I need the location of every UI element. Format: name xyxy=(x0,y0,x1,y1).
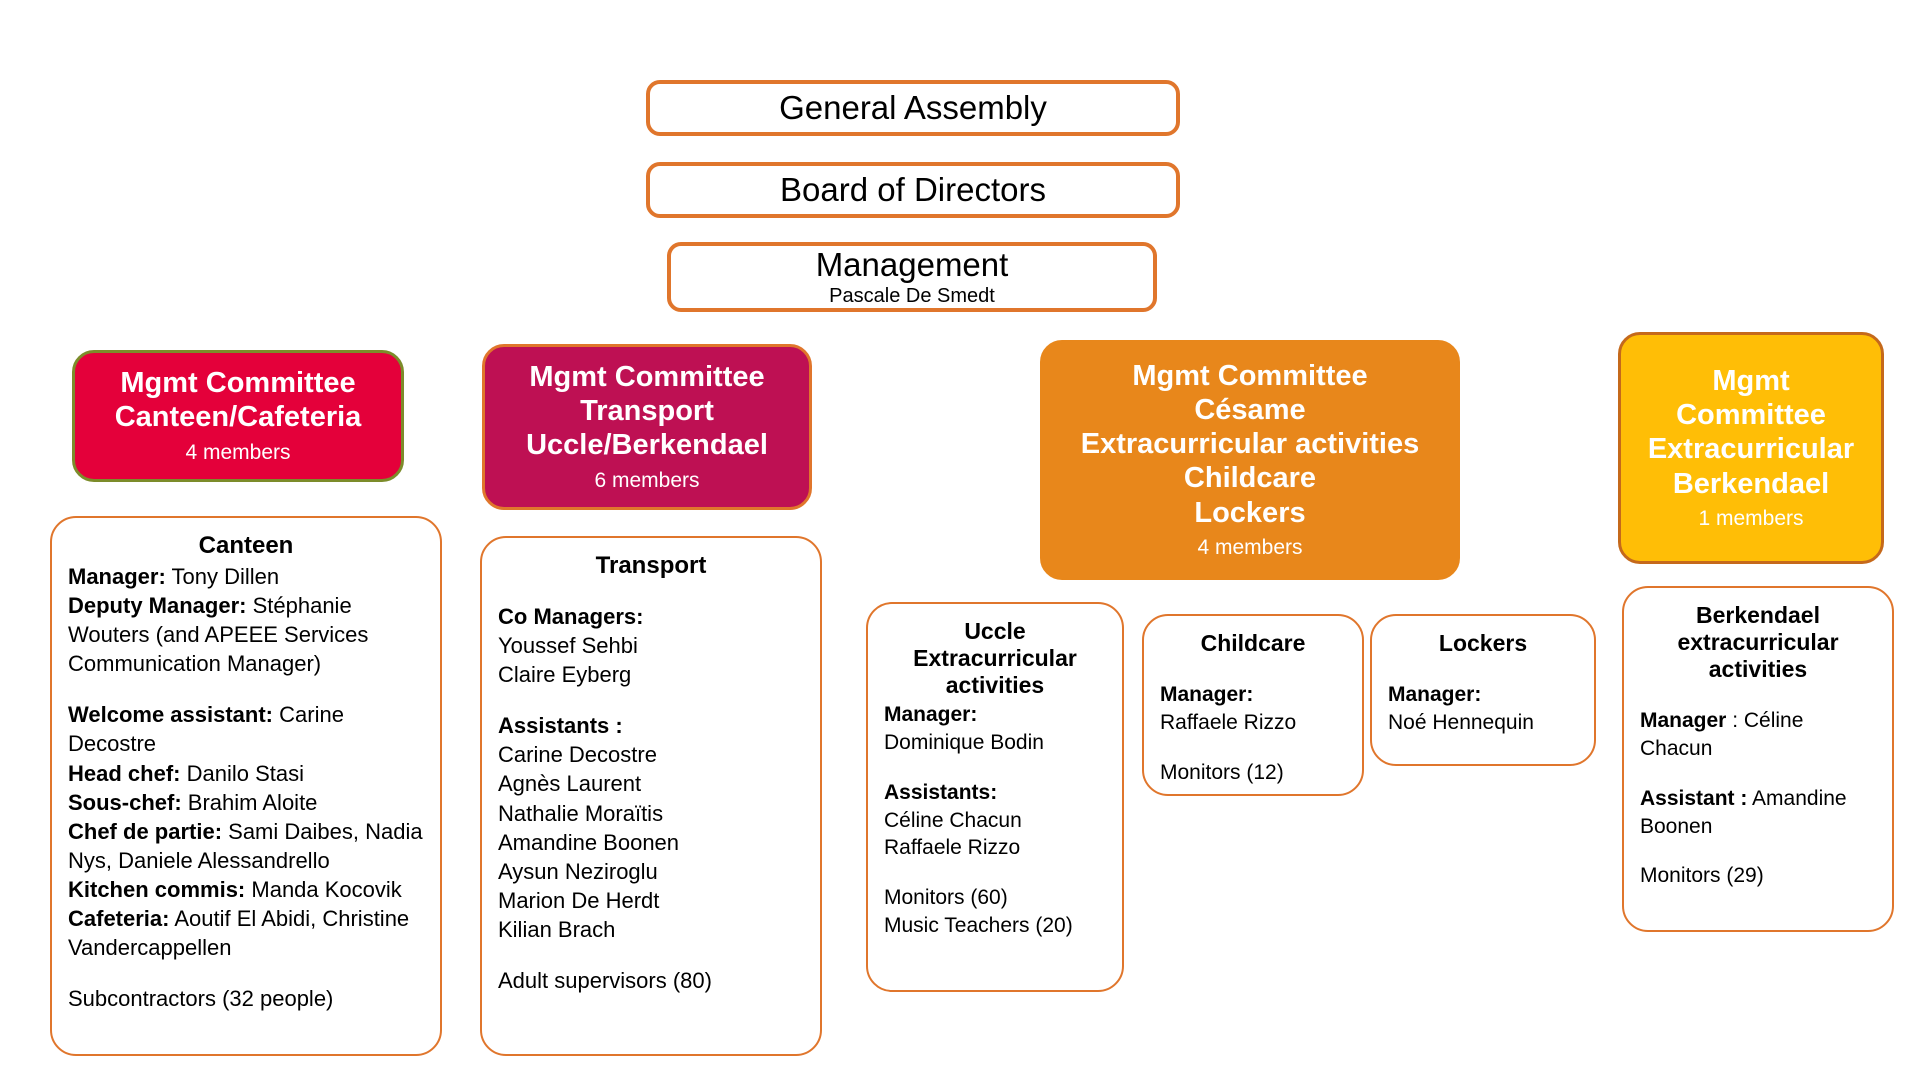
detail-transport-title: Transport xyxy=(498,552,804,580)
detail-row: Agnès Laurent xyxy=(498,769,804,798)
detail-row: Subcontractors (32 people) xyxy=(68,984,424,1013)
detail-box-childcare: Childcare Manager:Raffaele RizzoMonitors… xyxy=(1142,614,1364,796)
detail-box-transport: Transport Co Managers:Youssef SehbiClair… xyxy=(480,536,822,1056)
committee-berkendael-line4: Berkendael xyxy=(1648,467,1854,501)
detail-row-label: Cafeteria: xyxy=(68,906,169,931)
detail-row: Monitors (29) xyxy=(1640,862,1876,890)
committee-cesame-line3: Extracurricular activities xyxy=(1081,427,1420,461)
detail-uccle-body: Manager:Dominique BodinAssistants:Céline… xyxy=(884,701,1106,939)
detail-lockers-body: Manager:Noé Hennequin xyxy=(1388,659,1578,736)
detail-spacer xyxy=(498,944,804,966)
general-assembly-box: General Assembly xyxy=(646,80,1180,136)
board-of-directors-box: Board of Directors xyxy=(646,162,1180,218)
committee-cesame-line2: Césame xyxy=(1081,393,1420,427)
committee-cesame-line1: Mgmt Committee xyxy=(1081,359,1420,393)
detail-row-label: Co Managers: xyxy=(498,604,643,629)
detail-row: Cafeteria: Aoutif El Abidi, Christine Va… xyxy=(68,904,424,962)
detail-row: Aysun Neziroglu xyxy=(498,857,804,886)
detail-row-value: Aysun Neziroglu xyxy=(498,859,658,884)
general-assembly-title: General Assembly xyxy=(779,89,1047,127)
detail-spacer xyxy=(1640,763,1876,785)
detail-title-line: activities xyxy=(884,672,1106,699)
detail-row-label: Assistants: xyxy=(884,781,997,804)
detail-row: Assistants: xyxy=(884,779,1106,807)
detail-row: Raffaele Rizzo xyxy=(884,834,1106,862)
detail-row: Noé Hennequin xyxy=(1388,709,1578,737)
detail-row-value: Kilian Brach xyxy=(498,917,615,942)
committee-canteen-members: 4 members xyxy=(185,439,290,466)
committee-cesame-line5: Lockers xyxy=(1081,496,1420,530)
detail-title-line: Berkendael xyxy=(1640,602,1876,629)
committee-transport-members: 6 members xyxy=(594,467,699,494)
detail-row-value: Music Teachers (20) xyxy=(884,914,1073,937)
detail-row: Raffaele Rizzo xyxy=(1160,709,1346,737)
detail-spacer xyxy=(1160,659,1346,681)
detail-row-value: Agnès Laurent xyxy=(498,771,641,796)
detail-row-label: Chef de partie: xyxy=(68,819,222,844)
committee-transport-title: Mgmt Committee Transport Uccle/Berkendae… xyxy=(526,360,768,463)
committee-berkendael-line3: Extracurricular xyxy=(1648,432,1854,466)
detail-row-value: Amandine Boonen xyxy=(498,830,679,855)
detail-row: Kitchen commis: Manda Kocovik xyxy=(68,875,424,904)
detail-berkendael-body: Manager : Céline ChacunAssistant : Amand… xyxy=(1640,685,1876,890)
detail-row-value: Monitors (12) xyxy=(1160,761,1284,784)
detail-row-value: Tony Dillen xyxy=(166,564,279,589)
detail-row: Deputy Manager: Stéphanie Wouters (and A… xyxy=(68,591,424,678)
committee-transport-line3: Uccle/Berkendael xyxy=(526,428,768,462)
detail-row: Music Teachers (20) xyxy=(884,912,1106,940)
detail-title-line: activities xyxy=(1640,656,1876,683)
detail-row-value: Brahim Aloite xyxy=(182,790,318,815)
board-of-directors-title: Board of Directors xyxy=(780,171,1046,209)
detail-row-value: Manda Kocovik xyxy=(245,877,402,902)
detail-box-uccle-extracurricular: UccleExtracurricularactivities Manager:D… xyxy=(866,602,1124,992)
detail-row: Assistant : Amandine Boonen xyxy=(1640,785,1876,840)
detail-box-canteen: Canteen Manager: Tony DillenDeputy Manag… xyxy=(50,516,442,1056)
detail-row: Manager: Tony Dillen xyxy=(68,562,424,591)
committee-cesame-line4: Childcare xyxy=(1081,461,1420,495)
detail-row-value: Youssef Sehbi xyxy=(498,633,638,658)
detail-uccle-title: UccleExtracurricularactivities xyxy=(884,618,1106,699)
detail-row-label: Manager: xyxy=(1388,683,1481,706)
detail-box-lockers: Lockers Manager:Noé Hennequin xyxy=(1370,614,1596,766)
detail-spacer xyxy=(68,962,424,984)
detail-spacer xyxy=(1388,659,1578,681)
detail-row-label: Assistant : xyxy=(1640,787,1747,810)
committee-cesame: Mgmt Committee Césame Extracurricular ac… xyxy=(1040,340,1460,580)
detail-row-label: Deputy Manager: xyxy=(68,593,246,618)
detail-row: Manager : Céline Chacun xyxy=(1640,707,1876,762)
detail-row-value: Noé Hennequin xyxy=(1388,711,1534,734)
detail-spacer xyxy=(884,862,1106,884)
detail-row-value: Monitors (60) xyxy=(884,886,1008,909)
detail-spacer xyxy=(1160,737,1346,759)
detail-row: Kilian Brach xyxy=(498,915,804,944)
detail-row: Head chef: Danilo Stasi xyxy=(68,759,424,788)
management-box: Management Pascale De Smedt xyxy=(667,242,1157,312)
detail-row-value: Raffaele Rizzo xyxy=(1160,711,1296,734)
management-person: Pascale De Smedt xyxy=(829,284,995,308)
detail-row: Céline Chacun xyxy=(884,807,1106,835)
detail-row: Monitors (60) xyxy=(884,884,1106,912)
detail-row: Manager: xyxy=(1160,681,1346,709)
detail-row: Dominique Bodin xyxy=(884,729,1106,757)
detail-childcare-title: Childcare xyxy=(1160,630,1346,657)
detail-row-value: Nathalie Moraïtis xyxy=(498,801,663,826)
detail-row: Claire Eyberg xyxy=(498,660,804,689)
detail-title-line: Extracurricular xyxy=(884,645,1106,672)
detail-row-label: Manager: xyxy=(1160,683,1253,706)
committee-extracurricular-berkendael: Mgmt Committee Extracurricular Berkendae… xyxy=(1618,332,1884,564)
detail-row-value: Raffaele Rizzo xyxy=(884,836,1020,859)
detail-spacer xyxy=(884,757,1106,779)
detail-row-value: Subcontractors (32 people) xyxy=(68,986,333,1011)
detail-childcare-body: Manager:Raffaele RizzoMonitors (12) xyxy=(1160,659,1346,786)
detail-row-label: Assistants : xyxy=(498,713,623,738)
detail-row: Co Managers: xyxy=(498,602,804,631)
detail-transport-body: Co Managers:Youssef SehbiClaire EybergAs… xyxy=(498,602,804,994)
detail-row-value: Dominique Bodin xyxy=(884,731,1044,754)
committee-berkendael-title: Mgmt Committee Extracurricular Berkendae… xyxy=(1648,364,1854,501)
detail-row-value: Claire Eyberg xyxy=(498,662,631,687)
detail-row-label: Manager: xyxy=(68,564,166,589)
detail-row-value: Marion De Herdt xyxy=(498,888,659,913)
committee-canteen-line2: Canteen/Cafeteria xyxy=(115,400,362,434)
detail-spacer xyxy=(68,678,424,700)
detail-row-value: Céline Chacun xyxy=(884,809,1022,832)
detail-canteen-title: Canteen xyxy=(68,532,424,560)
committee-cesame-members: 4 members xyxy=(1197,534,1302,561)
committee-cesame-title: Mgmt Committee Césame Extracurricular ac… xyxy=(1081,359,1420,530)
detail-row-label: Kitchen commis: xyxy=(68,877,245,902)
detail-lockers-title: Lockers xyxy=(1388,630,1578,657)
detail-row: Amandine Boonen xyxy=(498,828,804,857)
detail-row: Sous-chef: Brahim Aloite xyxy=(68,788,424,817)
detail-row-label: Welcome assistant: xyxy=(68,702,273,727)
detail-row-label: Sous-chef: xyxy=(68,790,182,815)
detail-row-label: Manager xyxy=(1640,709,1726,732)
detail-row-value: Danilo Stasi xyxy=(180,761,304,786)
committee-berkendael-members: 1 members xyxy=(1698,505,1803,532)
detail-title-line: extracurricular xyxy=(1640,629,1876,656)
committee-transport-line2: Transport xyxy=(526,394,768,428)
detail-spacer xyxy=(1640,685,1876,707)
detail-row: Adult supervisors (80) xyxy=(498,966,804,995)
committee-canteen-cafeteria: Mgmt Committee Canteen/Cafeteria 4 membe… xyxy=(72,350,404,482)
detail-row-value: Carine Decostre xyxy=(498,742,657,767)
detail-title-line: Uccle xyxy=(884,618,1106,645)
detail-row: Youssef Sehbi xyxy=(498,631,804,660)
detail-row-value: Adult supervisors (80) xyxy=(498,968,712,993)
detail-row: Marion De Herdt xyxy=(498,886,804,915)
detail-row: Chef de partie: Sami Daibes, Nadia Nys, … xyxy=(68,817,424,875)
committee-berkendael-line1: Mgmt xyxy=(1648,364,1854,398)
detail-row-value: Monitors (29) xyxy=(1640,864,1764,887)
detail-row-label: Head chef: xyxy=(68,761,180,786)
committee-berkendael-line2: Committee xyxy=(1648,398,1854,432)
detail-box-berkendael-extracurricular: Berkendaelextracurricularactivities Mana… xyxy=(1622,586,1894,932)
detail-spacer xyxy=(1640,840,1876,862)
detail-row: Carine Decostre xyxy=(498,740,804,769)
management-title: Management xyxy=(816,246,1009,284)
committee-canteen-line1: Mgmt Committee xyxy=(115,366,362,400)
detail-row: Monitors (12) xyxy=(1160,759,1346,787)
detail-row: Manager: xyxy=(884,701,1106,729)
committee-canteen-title: Mgmt Committee Canteen/Cafeteria xyxy=(115,366,362,434)
detail-row-label: Manager: xyxy=(884,703,977,726)
detail-spacer xyxy=(498,689,804,711)
detail-canteen-body: Manager: Tony DillenDeputy Manager: Stép… xyxy=(68,562,424,1012)
detail-row: Assistants : xyxy=(498,711,804,740)
detail-row: Nathalie Moraïtis xyxy=(498,799,804,828)
detail-berkendael-title: Berkendaelextracurricularactivities xyxy=(1640,602,1876,683)
detail-row: Manager: xyxy=(1388,681,1578,709)
committee-transport-line1: Mgmt Committee xyxy=(526,360,768,394)
committee-transport: Mgmt Committee Transport Uccle/Berkendae… xyxy=(482,344,812,510)
detail-row: Welcome assistant: Carine Decostre xyxy=(68,700,424,758)
